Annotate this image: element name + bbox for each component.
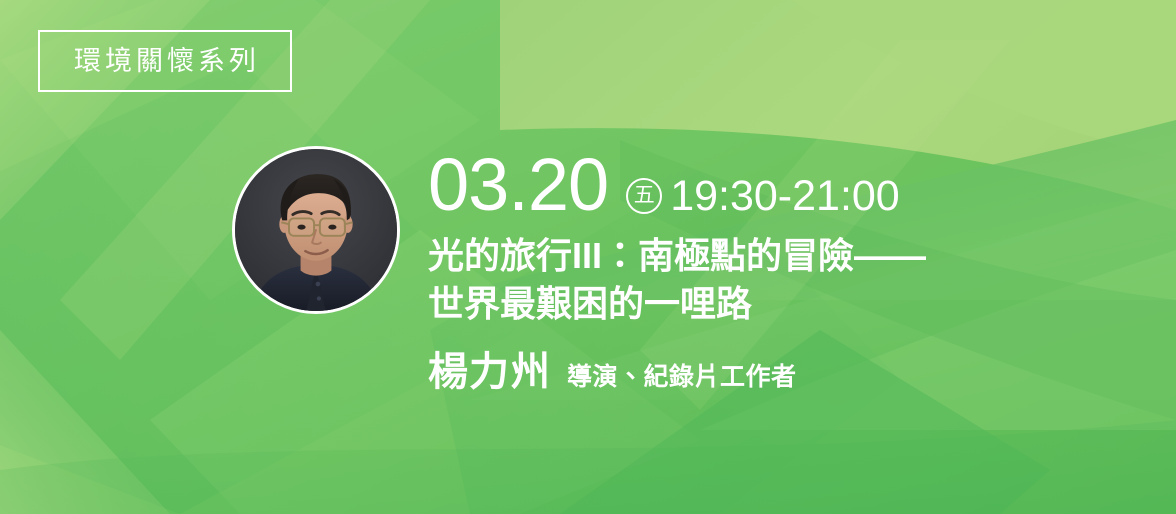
weekday-badge: 五 xyxy=(626,178,662,214)
talk-title-line-2: 世界最艱困的一哩路 xyxy=(428,280,1128,328)
event-banner: 環境關懷系列 xyxy=(0,0,1176,514)
speaker-name: 楊力州 xyxy=(428,350,551,394)
event-time-range: 19:30-21:00 xyxy=(670,175,900,218)
event-info: 03.20 五 19:30-21:00 光的旅行III：南極點的冒險—— 世界最… xyxy=(428,148,1128,394)
speaker-portrait xyxy=(232,146,400,314)
event-date: 03.20 xyxy=(428,148,608,222)
series-badge-label: 環境關懷系列 xyxy=(70,48,260,75)
talk-title: 光的旅行III：南極點的冒險—— 世界最艱困的一哩路 xyxy=(428,232,1128,328)
event-datetime: 03.20 五 19:30-21:00 xyxy=(428,148,1128,222)
speaker-info: 楊力州 導演、紀錄片工作者 xyxy=(428,350,1128,394)
talk-title-line-1: 光的旅行III：南極點的冒險—— xyxy=(428,232,1128,280)
portrait-image xyxy=(235,149,397,311)
series-badge: 環境關懷系列 xyxy=(38,30,292,92)
speaker-role: 導演、紀錄片工作者 xyxy=(567,362,797,392)
